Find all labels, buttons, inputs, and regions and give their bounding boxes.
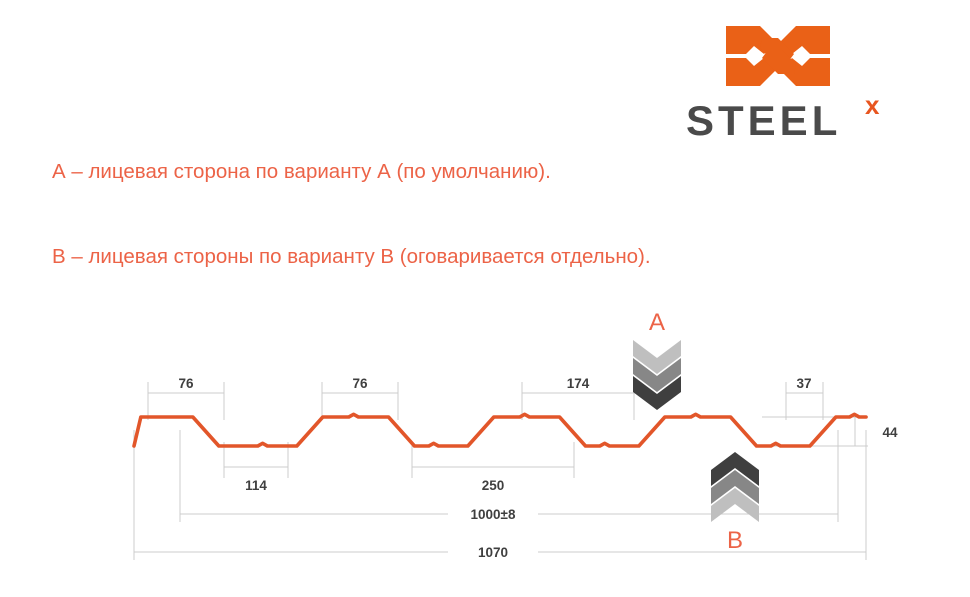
dim-label-44: 44	[882, 425, 898, 440]
wordmark-text: STEEL	[686, 100, 841, 142]
side-b-label: B	[727, 527, 743, 554]
steelx-x-mark-icon	[724, 16, 832, 96]
side-a-chevron-group: A	[633, 309, 681, 410]
dim-label-1070: 1070	[478, 545, 508, 560]
dim-label-250: 250	[482, 478, 505, 493]
dim-label-76-mid: 76	[352, 376, 368, 391]
profile-drawing-svg: 76 76 174 37 114 250 44 1000±8 1070 A	[0, 290, 970, 580]
caption-variant-b: В – лицевая стороны по варианту В (огова…	[52, 245, 651, 269]
brand-logo: STEEL x	[686, 16, 916, 146]
x-mark-svg	[724, 16, 832, 96]
side-b-chevron-group: B	[711, 452, 759, 554]
wordmark-superscript: x	[865, 92, 879, 118]
chevron-up-icon	[711, 452, 759, 522]
chevron-down-icon	[633, 340, 681, 410]
dim-label-174: 174	[567, 376, 590, 391]
sheet-profile-path	[134, 414, 866, 446]
side-a-label: A	[649, 309, 665, 336]
dim-label-1000: 1000±8	[471, 507, 516, 522]
dim-label-76-left: 76	[178, 376, 194, 391]
page-root: STEEL x А – лицевая сторона по варианту …	[0, 0, 970, 597]
dimension-labels-group: 76 76 174 37 114 250 44 1000±8 1070	[178, 376, 898, 560]
caption-variant-a: А – лицевая сторона по варианту А (по ум…	[52, 160, 551, 184]
profile-technical-drawing: 76 76 174 37 114 250 44 1000±8 1070 A	[0, 290, 970, 580]
dim-label-37: 37	[796, 376, 811, 391]
dim-label-114: 114	[245, 478, 267, 493]
brand-wordmark: STEEL x	[686, 100, 916, 142]
